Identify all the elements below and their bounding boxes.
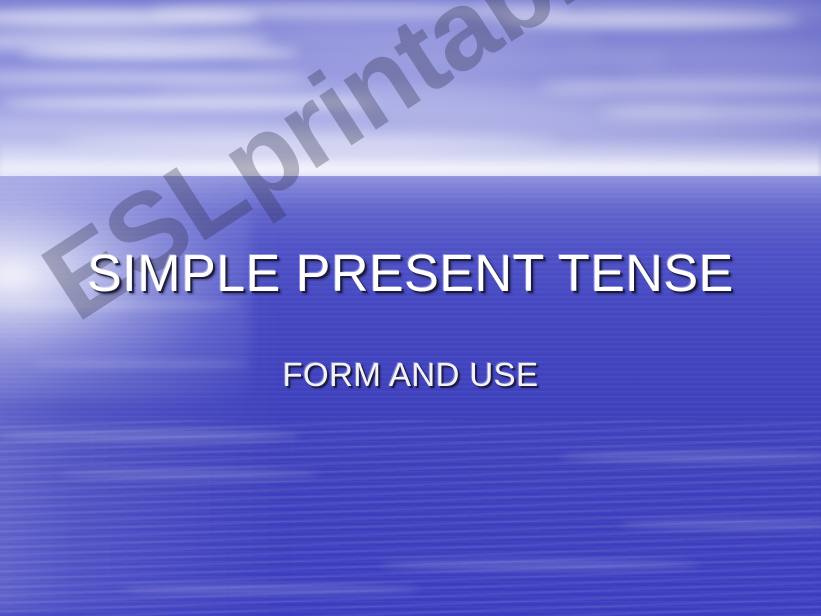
slide-subtitle: FORM AND USE	[0, 356, 821, 394]
presentation-slide: ESLprintables.com SIMPLE PRESENT TENSE F…	[0, 0, 821, 616]
slide-text-layer: SIMPLE PRESENT TENSE FORM AND USE	[0, 0, 821, 616]
page-title: SIMPLE PRESENT TENSE	[0, 247, 821, 302]
